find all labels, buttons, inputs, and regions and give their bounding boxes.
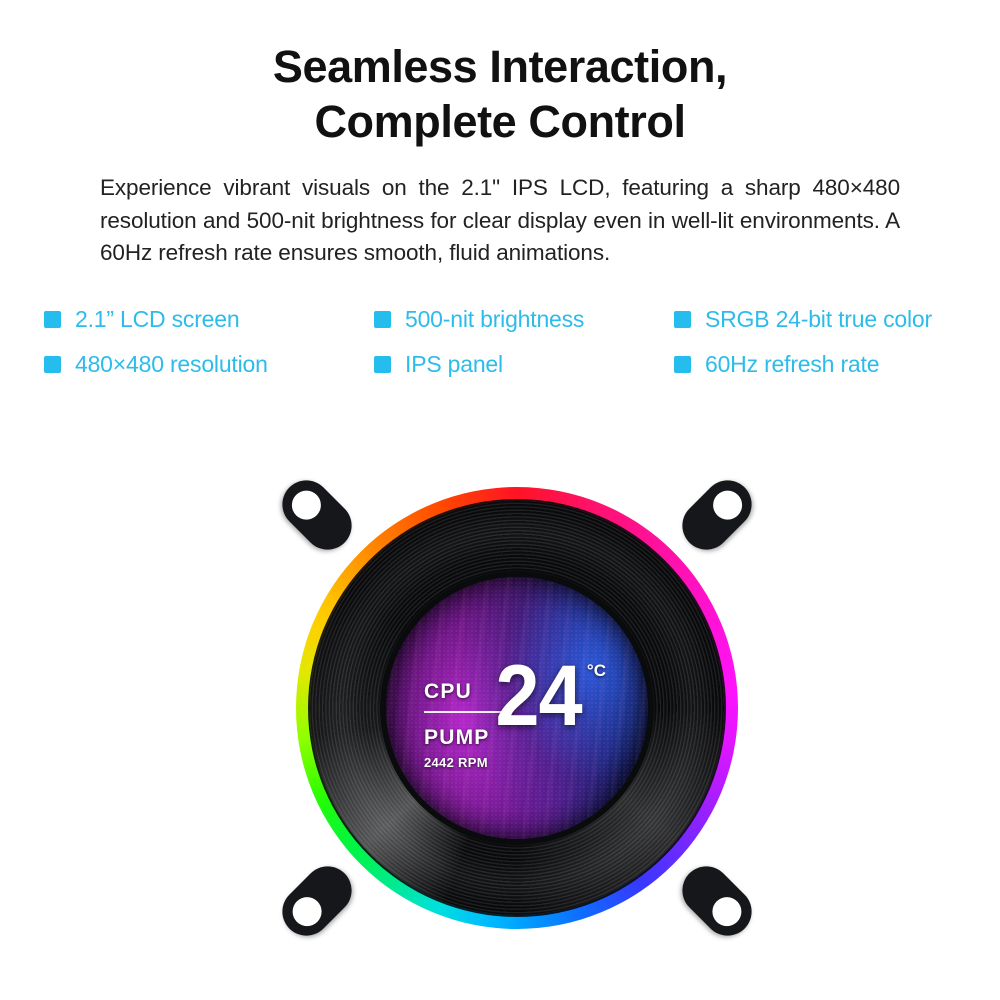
temperature-value: 24 [496, 659, 582, 735]
lcd-display[interactable]: CPU PUMP 2442 RPM 24 °C [386, 577, 648, 839]
bullet-square-icon [44, 311, 61, 328]
feature-label: IPS panel [405, 351, 503, 378]
temperature-readout: 24 °C [488, 659, 606, 735]
bullet-square-icon [374, 311, 391, 328]
mounting-tab-bottom-left [272, 856, 361, 945]
feature-label: 60Hz refresh rate [705, 351, 879, 378]
mounting-tab-top-right [672, 470, 761, 559]
headline-line-2: Complete Control [0, 95, 1000, 150]
pump-rpm-value: 2442 RPM [424, 755, 520, 770]
feature-label: 480×480 resolution [75, 351, 268, 378]
lcd-readout: CPU PUMP 2442 RPM 24 °C [386, 577, 648, 839]
bullet-square-icon [674, 356, 691, 373]
feature-label: SRGB 24-bit true color [705, 306, 932, 333]
feature-item-ips-panel: IPS panel [374, 351, 674, 378]
bullet-square-icon [374, 356, 391, 373]
feature-item-brightness: 500-nit brightness [374, 306, 674, 333]
mounting-tab-bottom-right [672, 856, 761, 945]
temperature-unit: °C [587, 661, 606, 681]
page-title: Seamless Interaction, Complete Control [0, 0, 1000, 150]
feature-list: 2.1” LCD screen 500-nit brightness SRGB … [44, 306, 974, 378]
feature-label: 500-nit brightness [405, 306, 584, 333]
mounting-tab-top-left [272, 470, 361, 559]
cpu-cooler-pump-head: CPU PUMP 2442 RPM 24 °C [272, 463, 762, 953]
description-paragraph: Experience vibrant visuals on the 2.1" I… [100, 172, 900, 271]
product-image-stage: CPU PUMP 2442 RPM 24 °C [0, 455, 1000, 975]
feature-item-true-color: SRGB 24-bit true color [674, 306, 974, 333]
feature-label: 2.1” LCD screen [75, 306, 239, 333]
bullet-square-icon [674, 311, 691, 328]
feature-item-lcd-screen: 2.1” LCD screen [44, 306, 374, 333]
headline-line-1: Seamless Interaction, [0, 40, 1000, 95]
feature-item-refresh-rate: 60Hz refresh rate [674, 351, 974, 378]
feature-item-resolution: 480×480 resolution [44, 351, 374, 378]
bullet-square-icon [44, 356, 61, 373]
